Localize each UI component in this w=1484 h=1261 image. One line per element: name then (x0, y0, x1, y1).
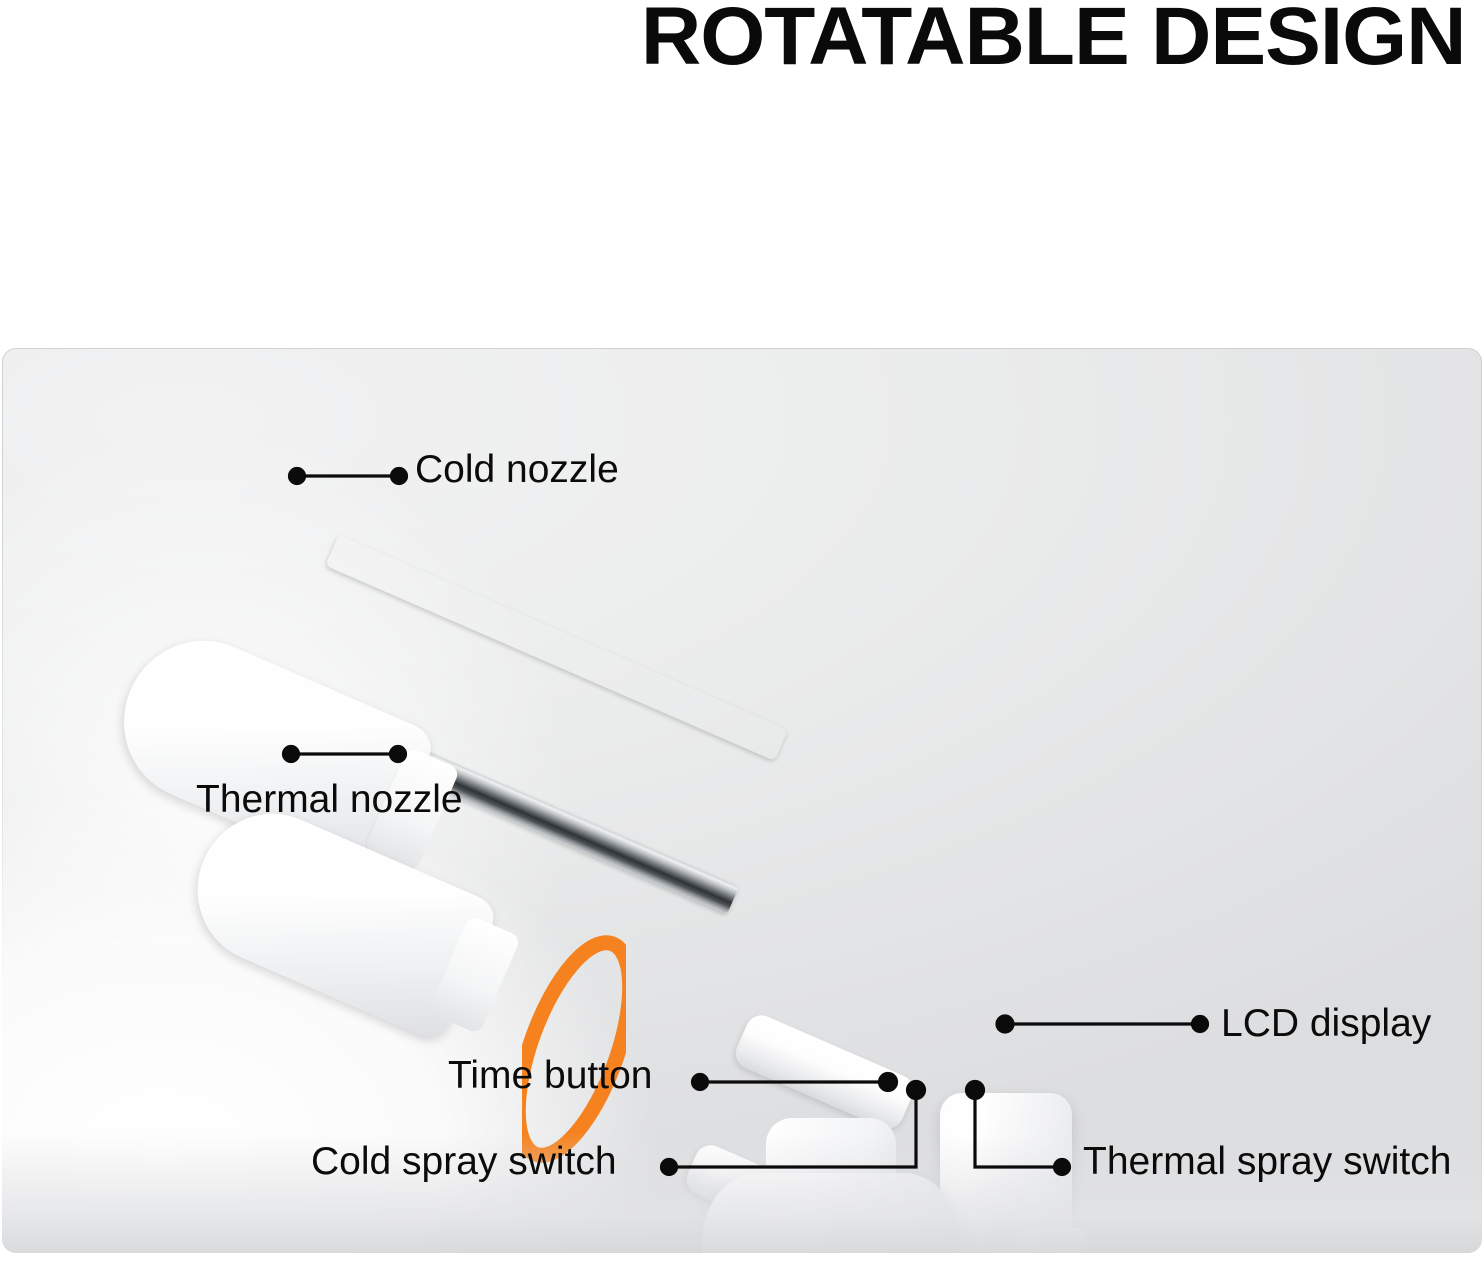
callout-label-cold-nozzle: Cold nozzle (415, 450, 619, 489)
callout-label-time-button: Time button (448, 1056, 652, 1095)
callout-label-cold-spray-switch: Cold spray switch (311, 1142, 617, 1181)
rotation-ring-icon (522, 931, 626, 1167)
header-band: ROTATABLE DESIGN (0, 0, 1484, 348)
page-title: ROTATABLE DESIGN (641, 0, 1466, 78)
cold-arm-sleeve (731, 1010, 918, 1133)
callout-label-lcd-display: LCD display (1221, 1004, 1431, 1043)
callout-label-thermal-spray-switch: Thermal spray switch (1083, 1142, 1451, 1181)
title-accent-bar (1322, 141, 1446, 161)
callout-label-thermal-nozzle: Thermal nozzle (196, 780, 463, 819)
